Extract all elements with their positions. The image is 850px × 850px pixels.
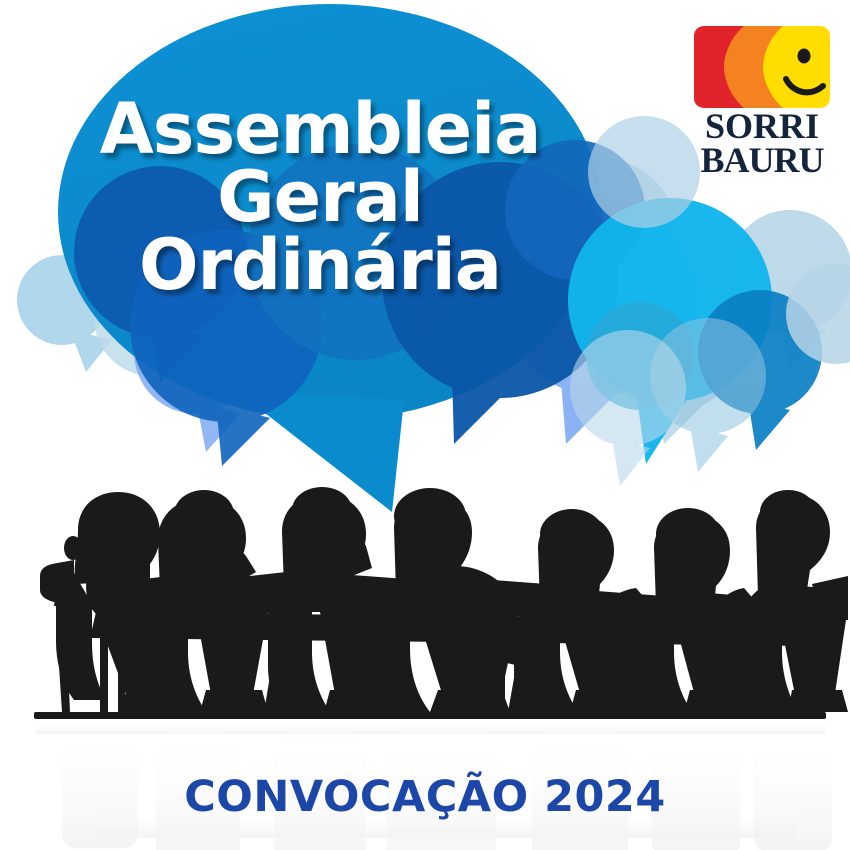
- logo-wordmark-line-1: SORRI: [686, 110, 838, 144]
- bubble-topright-sky: [588, 116, 700, 228]
- meeting-silhouettes: [34, 487, 848, 719]
- logo-smiley-icon: [686, 24, 838, 110]
- footer-caption: CONVOCAÇÃO 2024: [0, 772, 850, 822]
- poster-canvas: Assembleia Geral Ordinária SORRI BAURU C…: [0, 0, 850, 850]
- sorri-bauru-logo: SORRI BAURU: [686, 24, 838, 178]
- logo-wordmark-line-2: BAURU: [686, 144, 838, 178]
- bubble-pale-bottom-mid: [570, 330, 686, 486]
